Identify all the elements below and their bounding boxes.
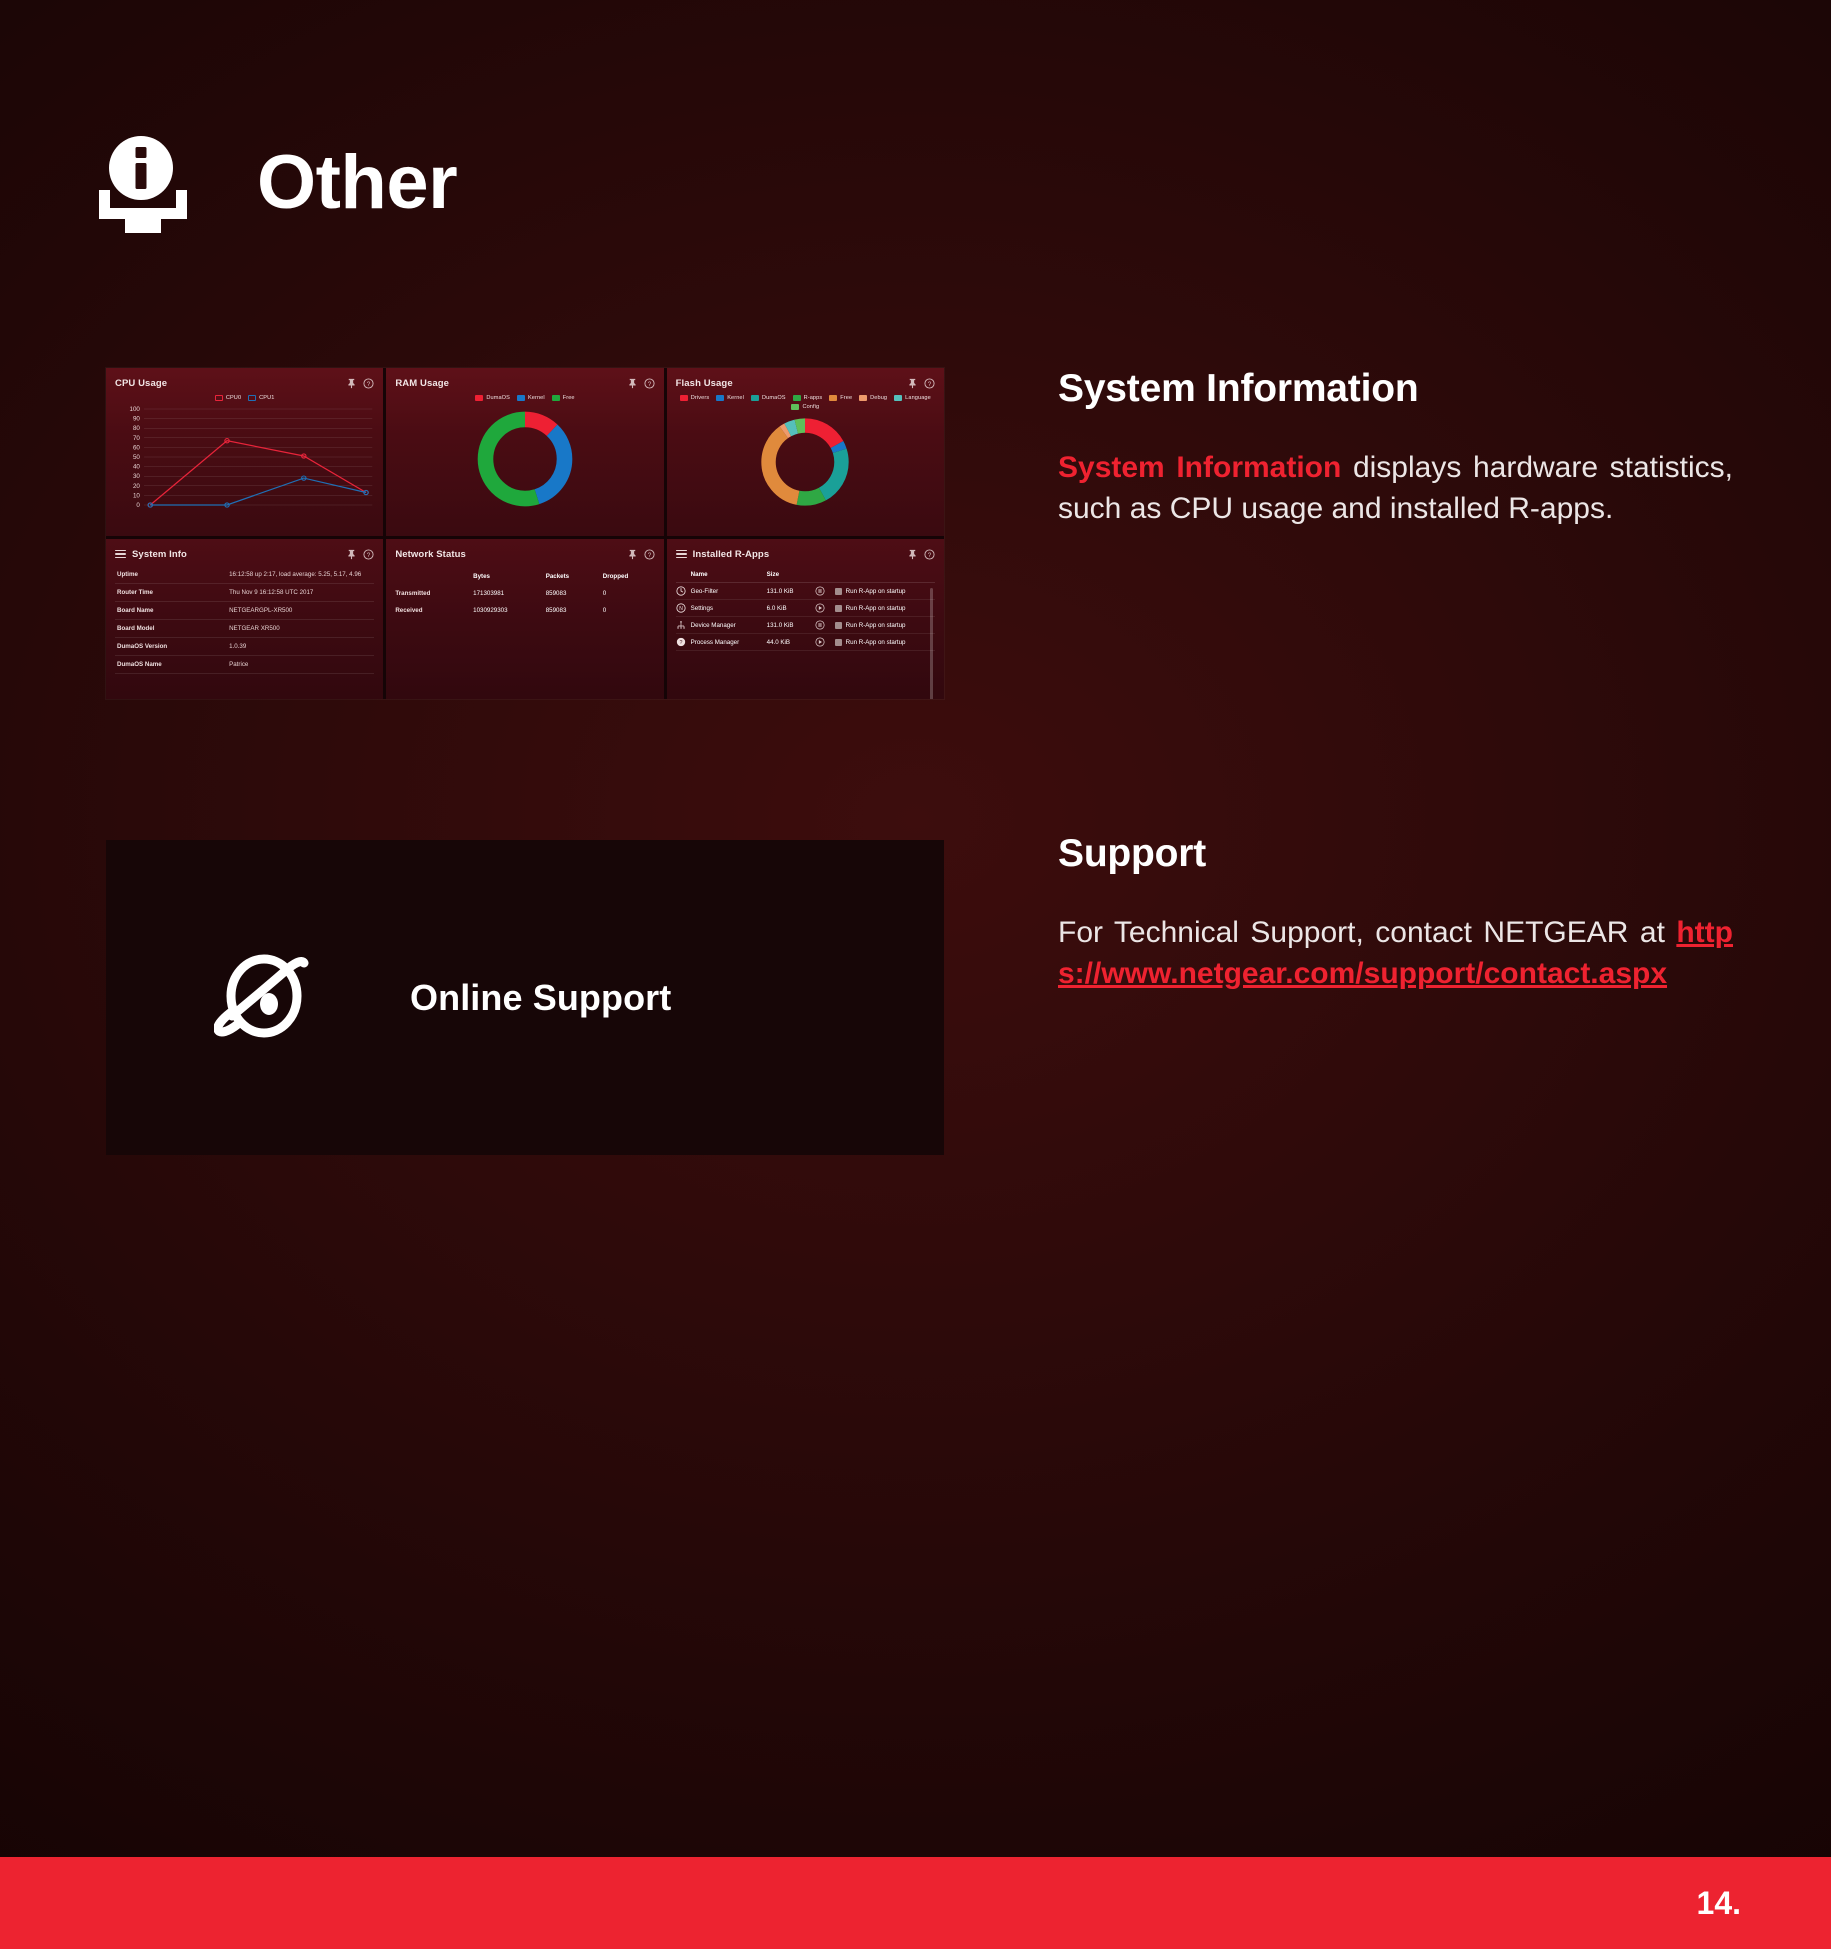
cpu-legend: CPU0 CPU1: [115, 395, 374, 401]
rapp-size: 44.0 KiB: [767, 639, 815, 646]
page-footer: 14.: [0, 1857, 1831, 1949]
panel-network-status-title: Network Status: [395, 549, 466, 560]
legend-label: Drivers: [691, 395, 709, 401]
table-header-row: Bytes Packets Dropped: [395, 568, 654, 585]
process-manager-icon: ?: [676, 637, 691, 647]
cpu-line-chart: 100 90 80 70 60 50 40 30 20 10 0: [115, 403, 374, 513]
svg-text:30: 30: [133, 473, 141, 480]
row-value: NETGEAR XR500: [229, 625, 374, 632]
legend-swatch: [552, 395, 560, 401]
legend-item[interactable]: Free: [552, 395, 575, 401]
help-circle-icon[interactable]: ?: [363, 549, 374, 560]
network-status-table: Bytes Packets Dropped Transmitted 171303…: [395, 568, 654, 619]
table-row: Transmitted 171303981 859083 0: [395, 585, 654, 602]
pause-icon[interactable]: [815, 586, 835, 596]
legend-label: DumaOS: [486, 395, 510, 401]
svg-text:10: 10: [133, 492, 141, 499]
table-row: Router Time Thu Nov 9 16:12:58 UTC 2017: [115, 584, 374, 602]
legend-swatch: [517, 395, 525, 401]
system-information-section: System Information System Information di…: [1058, 368, 1733, 530]
legend-item[interactable]: Drivers: [680, 395, 709, 401]
row-packets: 859083: [546, 590, 603, 597]
play-icon[interactable]: [815, 637, 835, 647]
svg-text:20: 20: [133, 483, 141, 490]
legend-swatch: [475, 395, 483, 401]
table-row: Device Manager 131.0 KiB Run R-App on st…: [676, 617, 935, 634]
hamburger-icon[interactable]: [115, 550, 126, 559]
legend-swatch: [248, 395, 256, 401]
panel-installed-rapps: Installed R-Apps ? Name Size: [667, 539, 944, 699]
legend-label: Free: [840, 395, 852, 401]
legend-swatch: [751, 395, 759, 401]
row-value: NETGEARGPL-XR500: [229, 607, 374, 614]
flash-donut-chart: [676, 412, 935, 512]
row-key: DumaOS Name: [115, 661, 229, 668]
svg-text:100: 100: [130, 406, 141, 413]
svg-text:?: ?: [679, 640, 682, 646]
legend-label: Debug: [870, 395, 887, 401]
geo-filter-icon: [676, 586, 691, 596]
netduma-orbit-icon: [214, 946, 318, 1050]
page-title: Other: [257, 145, 457, 221]
table-row: Board Name NETGEARGPL-XR500: [115, 602, 374, 620]
panel-system-info: System Info ? Uptime 16:12:58 up 2:17, l…: [106, 539, 383, 699]
svg-text:?: ?: [647, 551, 651, 558]
ram-legend: DumaOS Kernel Free: [395, 395, 654, 401]
svg-text:50: 50: [133, 454, 141, 461]
row-dropped: 0: [603, 590, 655, 597]
panel-network-status: Network Status ? Bytes Packets Dropped T…: [386, 539, 663, 699]
pin-icon[interactable]: [346, 378, 357, 389]
help-circle-icon[interactable]: ?: [924, 378, 935, 389]
panel-network-status-header: Network Status ?: [395, 546, 654, 562]
panel-flash-usage: Flash Usage ? Drivers Kernel: [667, 368, 944, 536]
svg-text:70: 70: [133, 435, 141, 442]
legend-label: DumaOS: [762, 395, 786, 401]
panel-installed-rapps-header: Installed R-Apps ?: [676, 546, 935, 562]
checkbox[interactable]: [835, 622, 842, 629]
row-label: Received: [395, 607, 473, 614]
svg-text:?: ?: [928, 380, 932, 387]
svg-text:0: 0: [136, 502, 140, 509]
hamburger-icon[interactable]: [676, 550, 687, 559]
pin-icon[interactable]: [627, 549, 638, 560]
pin-icon[interactable]: [346, 549, 357, 560]
play-icon[interactable]: [815, 603, 835, 613]
help-circle-icon[interactable]: ?: [363, 378, 374, 389]
legend-swatch: [859, 395, 867, 401]
svg-text:80: 80: [133, 425, 141, 432]
svg-text:?: ?: [647, 380, 651, 387]
row-key: Board Name: [115, 607, 229, 614]
table-header-row: Name Size: [676, 566, 935, 583]
system-info-table: Uptime 16:12:58 up 2:17, load average: 5…: [115, 566, 374, 674]
svg-text:N: N: [679, 606, 683, 612]
rapp-size: 6.0 KiB: [767, 605, 815, 612]
checkbox[interactable]: [835, 588, 842, 595]
row-value: Thu Nov 9 16:12:58 UTC 2017: [229, 589, 374, 596]
panel-flash-title: Flash Usage: [676, 378, 733, 389]
col-head-bytes: Bytes: [473, 573, 546, 580]
panel-system-info-title: System Info: [132, 549, 187, 560]
rapp-name: Geo-Filter: [691, 588, 767, 595]
col-head-name: Name: [691, 571, 767, 578]
section-body: System Information displays hardware sta…: [1058, 447, 1733, 530]
panel-ram-header: RAM Usage ?: [395, 375, 654, 391]
legend-label: Language: [905, 395, 931, 401]
scrollbar[interactable]: [930, 588, 933, 699]
row-key: Board Model: [115, 625, 229, 632]
startup-checkbox-row[interactable]: Run R-App on startup: [835, 639, 935, 646]
help-circle-icon[interactable]: ?: [924, 549, 935, 560]
legend-item[interactable]: Language: [894, 395, 931, 401]
legend-item[interactable]: Kernel: [716, 395, 744, 401]
col-head-size: Size: [767, 571, 815, 578]
legend-item[interactable]: CPU1: [248, 395, 274, 401]
legend-item[interactable]: Kernel: [517, 395, 545, 401]
svg-text:?: ?: [928, 551, 932, 558]
pin-icon[interactable]: [907, 378, 918, 389]
legend-label: Config: [802, 404, 819, 410]
startup-label: Run R-App on startup: [846, 622, 906, 629]
help-circle-icon[interactable]: ?: [644, 378, 655, 389]
legend-label: Kernel: [528, 395, 545, 401]
installed-rapps-table: Name Size Geo-Filter 131.0 KiB: [676, 566, 935, 651]
table-row: DumaOS Version 1.0.39: [115, 638, 374, 656]
settings-icon: N: [676, 603, 691, 613]
row-key: Router Time: [115, 589, 229, 596]
device-manager-icon: [676, 620, 691, 630]
ram-donut-chart: [395, 403, 654, 515]
table-row: Geo-Filter 131.0 KiB Run R-App on startu…: [676, 583, 935, 600]
legend-swatch: [793, 395, 801, 401]
col-head-dropped: Dropped: [603, 573, 655, 580]
help-circle-icon[interactable]: ?: [644, 549, 655, 560]
rapp-size: 131.0 KiB: [767, 588, 815, 595]
legend-item[interactable]: Free: [829, 395, 852, 401]
rapp-size: 131.0 KiB: [767, 622, 815, 629]
table-row: Uptime 16:12:58 up 2:17, load average: 5…: [115, 566, 374, 584]
online-support-card[interactable]: Online Support: [106, 840, 944, 1155]
legend-item[interactable]: CPU0: [215, 395, 241, 401]
section-heading: System Information: [1058, 368, 1733, 411]
legend-item[interactable]: DumaOS: [751, 395, 786, 401]
legend-item[interactable]: Config: [791, 404, 819, 410]
online-support-label: Online Support: [410, 977, 671, 1019]
col-head-packets: Packets: [546, 573, 603, 580]
legend-label: Free: [563, 395, 575, 401]
legend-label: Kernel: [727, 395, 744, 401]
svg-text:?: ?: [367, 380, 371, 387]
table-row: Board Model NETGEAR XR500: [115, 620, 374, 638]
row-value: Patrice: [229, 661, 374, 668]
page-number: 14.: [1697, 1885, 1741, 1922]
legend-swatch: [680, 395, 688, 401]
section-body: For Technical Support, contact NETGEAR a…: [1058, 912, 1733, 995]
page-header: Other: [95, 130, 457, 235]
flash-legend: Drivers Kernel DumaOS R-apps Free: [676, 395, 935, 410]
row-key: Uptime: [115, 571, 229, 578]
startup-checkbox-row[interactable]: Run R-App on startup: [835, 588, 935, 595]
dashboard-screenshot: CPU Usage ? CPU0 CPU1: [106, 368, 944, 699]
legend-swatch: [791, 404, 799, 410]
legend-swatch: [894, 395, 902, 401]
legend-label: CPU1: [259, 395, 274, 401]
pin-icon[interactable]: [627, 378, 638, 389]
startup-label: Run R-App on startup: [846, 605, 906, 612]
startup-label: Run R-App on startup: [846, 639, 906, 646]
pause-icon[interactable]: [815, 620, 835, 630]
row-value: 1.0.39: [229, 643, 374, 650]
table-row: Received 1030929303 859083 0: [395, 602, 654, 619]
support-section: Support For Technical Support, contact N…: [1058, 833, 1733, 995]
panel-installed-rapps-title: Installed R-Apps: [693, 549, 770, 560]
info-device-icon: [95, 130, 211, 235]
svg-text:40: 40: [133, 464, 141, 471]
startup-checkbox-row[interactable]: Run R-App on startup: [835, 605, 935, 612]
rapp-name: Process Manager: [691, 639, 767, 646]
row-label: Transmitted: [395, 590, 473, 597]
checkbox[interactable]: [835, 605, 842, 612]
row-bytes: 1030929303: [473, 607, 546, 614]
row-key: DumaOS Version: [115, 643, 229, 650]
rapp-name: Settings: [691, 605, 767, 612]
svg-text:90: 90: [133, 416, 141, 423]
legend-item[interactable]: R-apps: [793, 395, 823, 401]
panel-cpu-title: CPU Usage: [115, 378, 167, 389]
panel-cpu-header: CPU Usage ?: [115, 375, 374, 391]
row-bytes: 171303981: [473, 590, 546, 597]
legend-swatch: [716, 395, 724, 401]
legend-label: CPU0: [226, 395, 241, 401]
section-heading: Support: [1058, 833, 1733, 876]
legend-swatch: [829, 395, 837, 401]
startup-checkbox-row[interactable]: Run R-App on startup: [835, 622, 935, 629]
legend-item[interactable]: Debug: [859, 395, 887, 401]
table-row: ? Process Manager 44.0 KiB Run R-App on …: [676, 634, 935, 651]
pin-icon[interactable]: [907, 549, 918, 560]
panel-ram-usage: RAM Usage ? DumaOS Kernel: [386, 368, 663, 536]
legend-item[interactable]: DumaOS: [475, 395, 510, 401]
svg-text:60: 60: [133, 444, 141, 451]
panel-flash-header: Flash Usage ?: [676, 375, 935, 391]
legend-swatch: [215, 395, 223, 401]
panel-cpu-usage: CPU Usage ? CPU0 CPU1: [106, 368, 383, 536]
support-intro-text: For Technical Support, contact NETGEAR a…: [1058, 916, 1676, 949]
table-row: N Settings 6.0 KiB Run R-App on startup: [676, 600, 935, 617]
row-value: 16:12:58 up 2:17, load average: 5.25, 5.…: [229, 571, 374, 578]
panel-system-info-header: System Info ?: [115, 546, 374, 562]
startup-label: Run R-App on startup: [846, 588, 906, 595]
row-dropped: 0: [603, 607, 655, 614]
rapp-name: Device Manager: [691, 622, 767, 629]
svg-text:?: ?: [367, 551, 371, 558]
row-packets: 859083: [546, 607, 603, 614]
checkbox[interactable]: [835, 639, 842, 646]
panel-ram-title: RAM Usage: [395, 378, 449, 389]
legend-label: R-apps: [804, 395, 823, 401]
table-row: DumaOS Name Patrice: [115, 656, 374, 674]
section-body-highlight: System Information: [1058, 451, 1341, 484]
